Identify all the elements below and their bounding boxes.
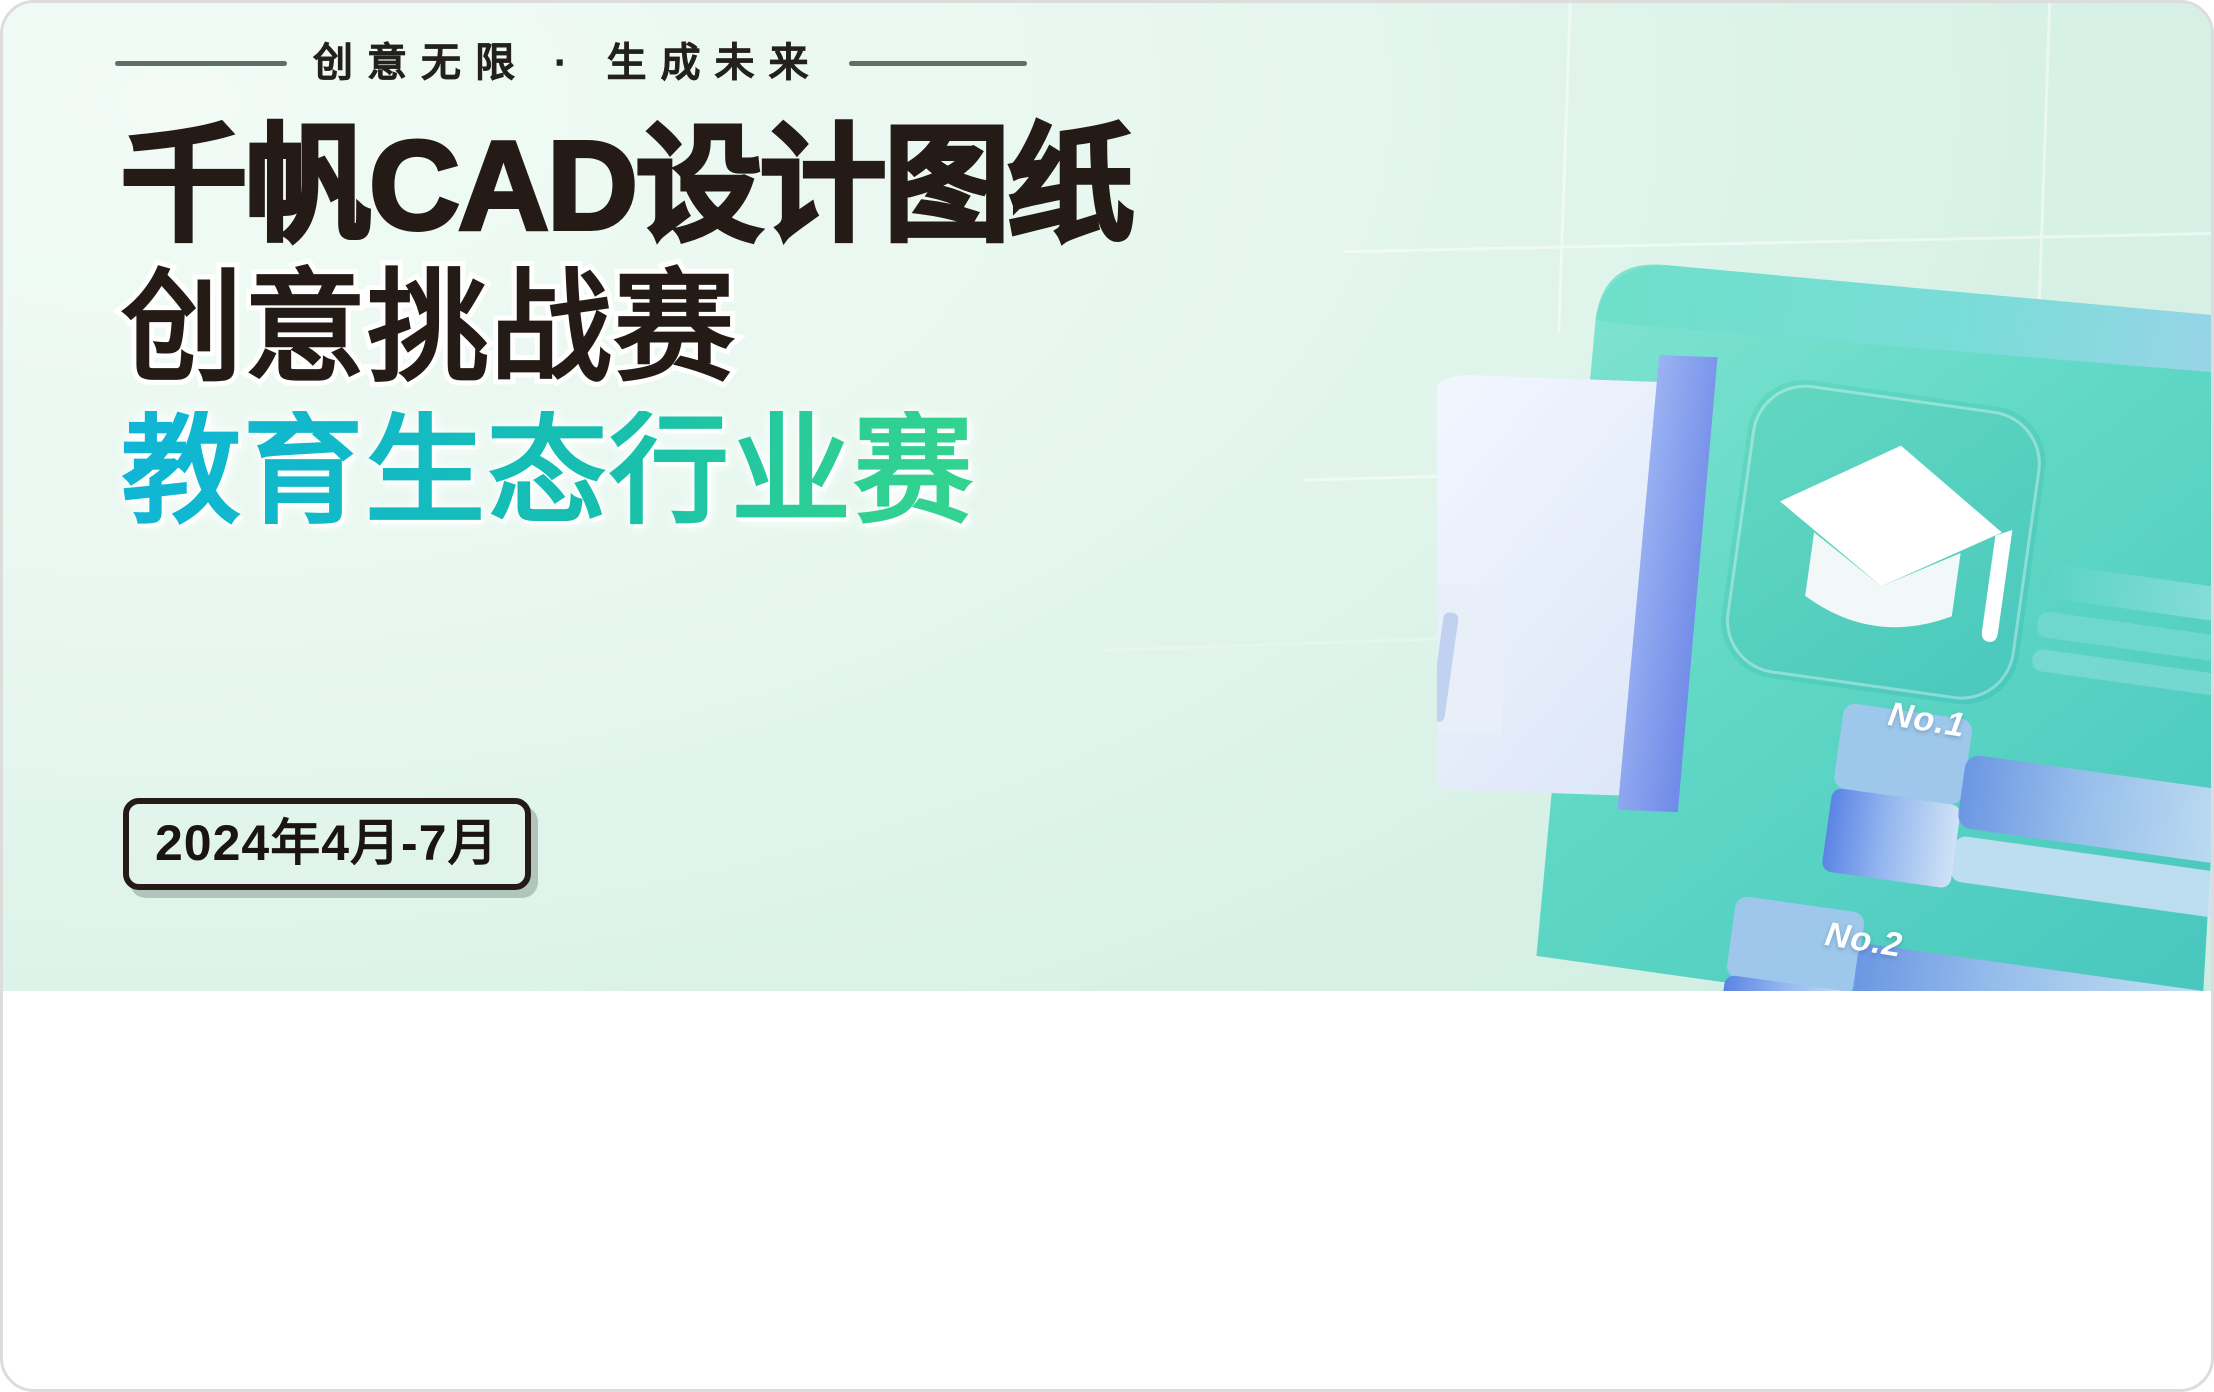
tagline-text: 创意无限 · 生成未来: [313, 43, 823, 83]
banner-headline: 千帆CAD设计图纸 创意挑战赛 教育生态行业赛: [121, 123, 1132, 531]
date-badge-label: 2024年4月-7月: [155, 818, 499, 868]
tagline-rule-right: [849, 61, 1027, 66]
page-root: 创意无限 · 生成未来 千帆CAD设计图纸 创意挑战赛 教育生态行业赛 2024…: [0, 0, 2214, 1392]
date-badge: 2024年4月-7月: [123, 798, 531, 890]
page-content-area: [3, 991, 2214, 1392]
rank-label-no1: No.1: [1885, 695, 1968, 746]
banner-tagline: 创意无限 · 生成未来: [115, 41, 1645, 85]
hero-illustration: [1437, 233, 2214, 991]
graduation-cap-icon: [1765, 430, 2022, 643]
tagline-rule-left: [115, 61, 287, 66]
headline-line-2: 创意挑战赛: [121, 267, 1132, 389]
promo-banner: 创意无限 · 生成未来 千帆CAD设计图纸 创意挑战赛 教育生态行业赛 2024…: [3, 3, 2214, 991]
headline-line-1: 千帆CAD设计图纸: [121, 123, 1132, 249]
rank-label-no2: No.2: [1822, 915, 1905, 966]
headline-line-3: 教育生态行业赛: [121, 411, 1132, 531]
